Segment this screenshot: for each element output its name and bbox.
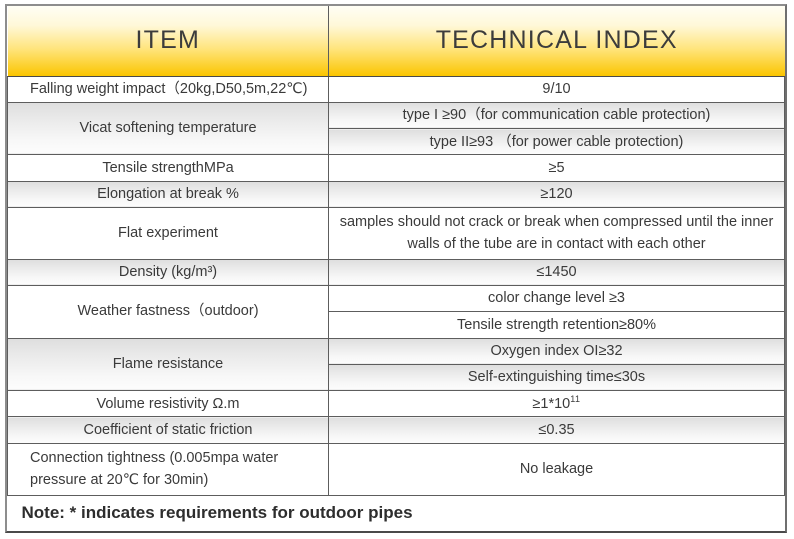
technical-index-table: ITEM TECHNICAL INDEX Falling weight impa…	[7, 6, 785, 531]
cell-item-2: Tensile strengthMPa	[8, 155, 329, 181]
table-row: Volume resistivity Ω.m≥1*1011	[8, 391, 785, 417]
table-note: Note: * indicates requirements for outdo…	[8, 495, 785, 531]
table-row: Elongation at break %≥120	[8, 181, 785, 207]
technical-index-table-container: ITEM TECHNICAL INDEX Falling weight impa…	[5, 4, 787, 533]
table-row: Flat experimentsamples should not crack …	[8, 208, 785, 260]
cell-value-1-0: type I ≥90（for communication cable prote…	[329, 102, 785, 128]
cell-item-5: Density (kg/m³)	[8, 259, 329, 285]
table-body: Falling weight impact（20kg,D50,5m,22℃)9/…	[8, 76, 785, 531]
cell-value-4-0: samples should not crack or break when c…	[329, 208, 785, 260]
table-row: Coefficient of static friction≤0.35	[8, 417, 785, 443]
header-cell-item: ITEM	[8, 6, 329, 76]
cell-item-6: Weather fastness（outdoor)	[8, 285, 329, 338]
cell-item-9: Coefficient of static friction	[8, 417, 329, 443]
table-row: Density (kg/m³)≤1450	[8, 259, 785, 285]
table-row: Weather fastness（outdoor)color change le…	[8, 285, 785, 311]
value-superscript: 11	[570, 394, 580, 404]
header-cell-technical-index: TECHNICAL INDEX	[329, 6, 785, 76]
cell-value-0-0: 9/10	[329, 76, 785, 102]
cell-value-2-0: ≥5	[329, 155, 785, 181]
table-row: Vicat softening temperaturetype I ≥90（fo…	[8, 102, 785, 128]
cell-value-8-0: ≥1*1011	[329, 391, 785, 417]
table-header: ITEM TECHNICAL INDEX	[8, 6, 785, 76]
table-row: Connection tightness (0.005mpa water pre…	[8, 443, 785, 495]
cell-value-1-1: type II≥93 （for power cable protection)	[329, 129, 785, 155]
note-row: Note: * indicates requirements for outdo…	[8, 495, 785, 531]
cell-item-1: Vicat softening temperature	[8, 102, 329, 155]
cell-item-0: Falling weight impact（20kg,D50,5m,22℃)	[8, 76, 329, 102]
table-row: Flame resistanceOxygen index OI≥32	[8, 338, 785, 364]
cell-value-6-0: color change level ≥3	[329, 285, 785, 311]
table-row: Tensile strengthMPa≥5	[8, 155, 785, 181]
cell-value-6-1: Tensile strength retention≥80%	[329, 312, 785, 338]
cell-item-10: Connection tightness (0.005mpa water pre…	[8, 443, 329, 495]
header-row: ITEM TECHNICAL INDEX	[8, 6, 785, 76]
cell-value-5-0: ≤1450	[329, 259, 785, 285]
cell-value-3-0: ≥120	[329, 181, 785, 207]
cell-value-9-0: ≤0.35	[329, 417, 785, 443]
cell-value-7-0: Oxygen index OI≥32	[329, 338, 785, 364]
cell-item-4: Flat experiment	[8, 208, 329, 260]
table-row: Falling weight impact（20kg,D50,5m,22℃)9/…	[8, 76, 785, 102]
cell-value-10-0: No leakage	[329, 443, 785, 495]
cell-value-7-1: Self-extinguishing time≤30s	[329, 364, 785, 390]
cell-item-3: Elongation at break %	[8, 181, 329, 207]
cell-item-8: Volume resistivity Ω.m	[8, 391, 329, 417]
cell-item-7: Flame resistance	[8, 338, 329, 391]
